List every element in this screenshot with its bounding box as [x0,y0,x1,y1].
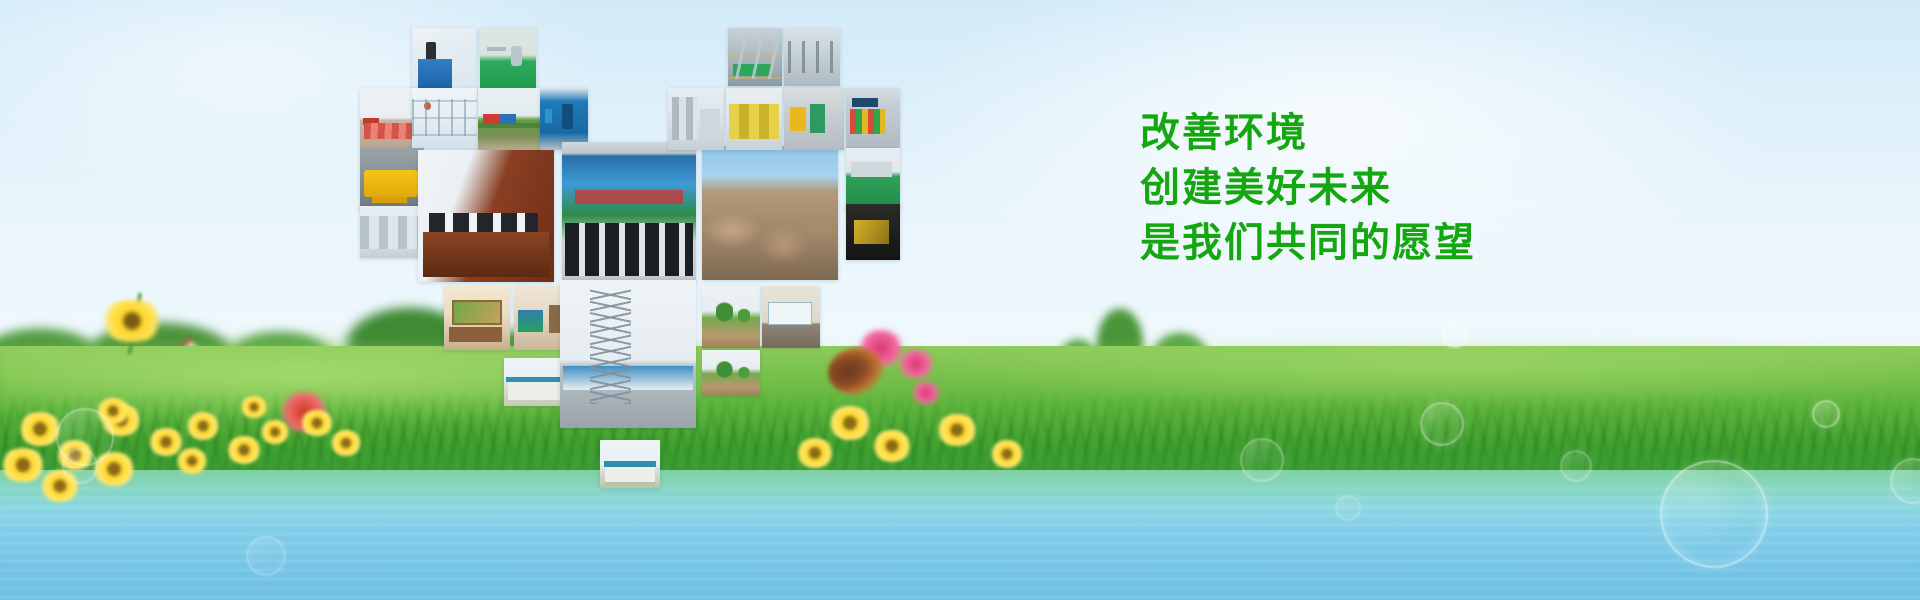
photo-image [360,206,424,258]
photo-image [562,142,696,282]
collage-photo-info-board-outdoor [762,286,820,348]
photo-image [412,88,477,150]
slogan-line-1: 改善环境 [1140,106,1660,161]
collage-photo-industrial-silo-plant [600,440,660,488]
photo-image [726,88,782,150]
collage-photo-press-machine-hall [784,88,844,150]
collage-photo-green-fence-roadside [478,88,540,150]
collage-photo-company-office-building [504,358,566,406]
photo-image [846,148,900,210]
collage-photo-blue-machinery-unit [540,88,588,150]
collage-photo-steel-tower-structure [560,280,696,428]
slogan-block: 改善环境 创建美好未来 是我们共同的愿望 [1140,106,1660,271]
collage-photo-lab-instrument-room [412,28,476,92]
collage-photo-yellow-tank-workshop [726,88,782,150]
collage-photo-outdoor-plant-overview [784,28,840,86]
photo-image [540,88,588,150]
photo-image [418,150,554,282]
photo-image [600,440,660,488]
photo-image [504,358,566,406]
photo-image [412,28,476,92]
collage-photo-office-reception-hall [444,286,510,350]
photo-image [560,280,696,428]
photo-image [478,88,540,150]
hero-banner: 改善环境 创建美好未来 是我们共同的愿望 [0,0,1920,600]
collage-photo-treatment-plant-walkway [728,28,782,86]
collage-photo-steel-tank-row [360,206,424,258]
photo-image [702,286,760,348]
photo-image [668,88,724,150]
slogan-line-2: 创建美好未来 [1140,161,1660,216]
photo-image [480,28,536,92]
photo-image [846,88,900,150]
company-photo-collage [0,0,1920,600]
photo-image [728,28,782,86]
collage-photo-electrical-control-panel [846,88,900,150]
photo-image [846,204,900,260]
collage-photo-laboratory-bottles-shelf [668,88,724,150]
collage-photo-plant-pipe-bridge [846,148,900,210]
collage-photo-tree-planting-area [702,350,760,396]
collage-photo-boardroom-meeting [418,150,554,282]
photo-image [762,286,820,348]
collage-photo-yellow-heavy-machine [360,148,424,212]
photo-image [784,28,840,86]
collage-photo-team-photo-led-screen [562,142,696,282]
collage-photo-tall-rock-formation [702,146,838,280]
collage-photo-green-epoxy-floor-workshop [480,28,536,92]
photo-image [444,286,510,350]
photo-image [784,88,844,150]
slogan-line-3: 是我们共同的愿望 [1140,216,1660,271]
collage-photo-yellow-equipment-night [846,204,900,260]
collage-photo-garden-landscape-path [702,286,760,348]
photo-image [360,148,424,212]
photo-image [702,350,760,396]
photo-image [702,146,838,280]
collage-photo-laboratory-glassware [412,88,477,150]
